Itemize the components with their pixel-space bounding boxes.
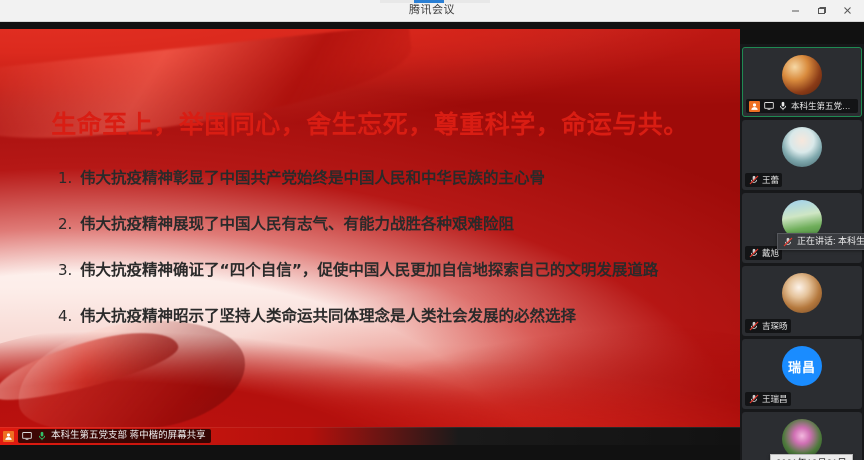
title-bar: 腾讯会议 (0, 0, 864, 22)
participant-name: 本科生第五党支部... (791, 100, 855, 112)
list-item: 1. 伟大抗疫精神彰显了中国共产党始终是中国人民和中华民族的主心骨 (58, 166, 708, 190)
shared-screen-slide[interactable]: 生命至上，举国同心，舍生忘死，尊重科学，命运与共。 1. 伟大抗疫精神彰显了中国… (0, 29, 740, 445)
participant-tile[interactable]: 本科生第五党支部... (742, 47, 862, 117)
window-controls (782, 0, 860, 21)
status-bar-divider (0, 427, 740, 428)
list-item: 4. 伟大抗疫精神昭示了坚持人类命运共同体理念是人类社会发展的必然选择 (58, 304, 708, 328)
date-tooltip: 2021年12月31日 星期五 (770, 454, 853, 460)
bullet-number: 3. (58, 258, 80, 282)
monitor-icon (21, 431, 32, 442)
microphone-muted-icon (748, 394, 759, 405)
tencent-meeting-window: 腾讯会议 (0, 0, 864, 460)
list-item: 3. 伟大抗疫精神确证了“四个自信”，促使中国人民更加自信地探索自己的文明发展道… (58, 258, 708, 282)
slide-content: 生命至上，举国同心，舍生忘死，尊重科学，命运与共。 1. 伟大抗疫精神彰显了中国… (0, 29, 740, 445)
microphone-muted-icon (748, 321, 759, 332)
share-status-chip: 本科生第五党支部 蒋中楷的屏幕共享 (18, 429, 211, 443)
participant-footer: 吉琛旸 (745, 319, 791, 333)
participant-tile[interactable]: 戴旭 (742, 193, 862, 263)
monitor-icon (763, 101, 774, 112)
window-title: 腾讯会议 (0, 0, 864, 21)
participant-footer: 本科生第五党支部... (746, 99, 858, 113)
screen-share-status-bar: 本科生第五党支部 蒋中楷的屏幕共享 (0, 427, 740, 445)
host-icon (3, 431, 14, 442)
avatar (782, 55, 822, 95)
meeting-stage: 生命至上，举国同心，舍生忘死，尊重科学，命运与共。 1. 伟大抗疫精神彰显了中国… (0, 22, 864, 460)
participant-tile[interactable]: 王蕾 (742, 120, 862, 190)
bullet-text: 伟大抗疫精神确证了“四个自信”，促使中国人民更加自信地探索自己的文明发展道路 (80, 258, 708, 282)
slide-headline: 生命至上，举国同心，舍生忘死，尊重科学，命运与共。 (0, 105, 740, 141)
speaking-tooltip: 正在讲话: 本科生… (777, 233, 864, 250)
close-button[interactable] (834, 0, 860, 21)
participant-footer: 王瑞昌 (745, 392, 791, 406)
bullet-number: 2. (58, 212, 80, 236)
participant-name: 吉琛旸 (762, 320, 788, 332)
participant-tile[interactable]: 瑞昌 王瑞昌 (742, 339, 862, 409)
microphone-icon (36, 431, 47, 442)
speaking-tooltip-text: 正在讲话: 本科生… (797, 235, 864, 248)
bullet-text: 伟大抗疫精神展现了中国人民有志气、有能力战胜各种艰难险阻 (80, 212, 708, 236)
microphone-muted-icon (782, 236, 793, 247)
bullet-text: 伟大抗疫精神昭示了坚持人类命运共同体理念是人类社会发展的必然选择 (80, 304, 708, 328)
avatar (782, 127, 822, 167)
participant-tile[interactable]: 吉琛旸 (742, 266, 862, 336)
minimize-button[interactable] (782, 0, 808, 21)
bullet-number: 1. (58, 166, 80, 190)
microphone-icon (777, 101, 788, 112)
slide-bullet-list: 1. 伟大抗疫精神彰显了中国共产党始终是中国人民和中华民族的主心骨 2. 伟大抗… (58, 166, 708, 350)
microphone-muted-icon (748, 175, 759, 186)
avatar: 瑞昌 (782, 346, 822, 386)
avatar (782, 419, 822, 459)
microphone-muted-icon (748, 248, 759, 259)
host-icon (749, 101, 760, 112)
participant-name: 王瑞昌 (762, 393, 788, 405)
bullet-number: 4. (58, 304, 80, 328)
bullet-text: 伟大抗疫精神彰显了中国共产党始终是中国人民和中华民族的主心骨 (80, 166, 708, 190)
participant-name: 王蕾 (762, 174, 779, 186)
status-bar-inner: 本科生第五党支部 蒋中楷的屏幕共享 (0, 429, 211, 443)
share-status-text: 本科生第五党支部 蒋中楷的屏幕共享 (51, 429, 206, 443)
list-item: 2. 伟大抗疫精神展现了中国人民有志气、有能力战胜各种艰难险阻 (58, 212, 708, 236)
avatar (782, 273, 822, 313)
participant-footer: 王蕾 (745, 173, 782, 187)
participant-sidebar[interactable]: 本科生第五党支部... 王蕾 (740, 44, 864, 460)
participant-tile[interactable]: 覃姝婷 (742, 412, 862, 460)
maximize-restore-button[interactable] (808, 0, 834, 21)
